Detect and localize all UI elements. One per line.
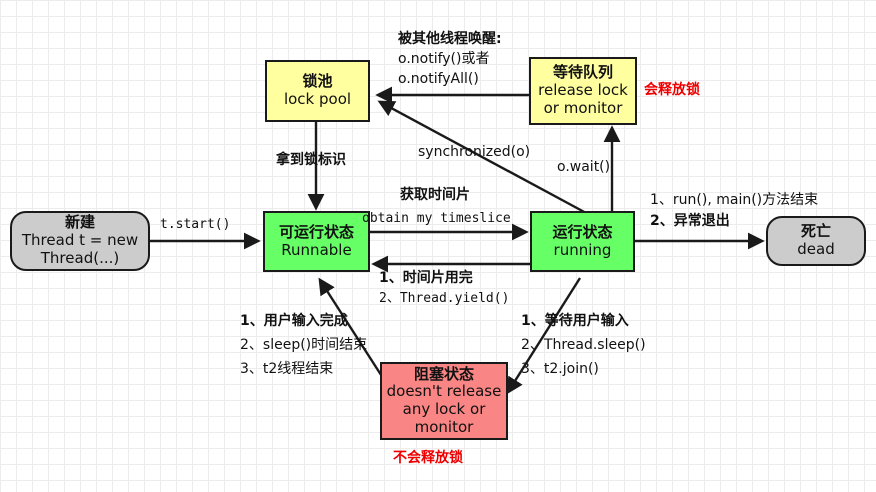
node-runnable[interactable]: 可运行状态 Runnable — [263, 211, 370, 272]
new-en-2: Thread(...) — [41, 250, 119, 268]
label-block-line1: 1、等待用户输入 — [521, 313, 629, 331]
label-unblock-line1: 1、用户输入完成 — [240, 313, 348, 331]
node-wait-queue[interactable]: 等待队列 release lock or monitor — [529, 57, 637, 125]
label-back-line1: 1、时间片用完 — [379, 270, 473, 288]
label-notify-line1: 被其他线程唤醒: — [398, 31, 502, 49]
node-new[interactable]: 新建 Thread t = new Thread(...) — [10, 211, 150, 271]
label-synchronized: synchronized(o) — [418, 144, 530, 162]
blocked-en-1: doesn't release — [387, 383, 502, 401]
label-dead-line2: 2、异常退出 — [650, 213, 730, 231]
label-t-start: t.start() — [160, 217, 230, 233]
new-cn: 新建 — [65, 214, 95, 232]
wait-queue-en-2: or monitor — [544, 100, 623, 118]
runnable-cn: 可运行状态 — [279, 224, 354, 242]
running-en: running — [554, 242, 612, 260]
label-unblock-line3: 3、t2线程结束 — [240, 361, 333, 379]
label-release-lock-note: 会释放锁 — [644, 82, 700, 100]
node-running[interactable]: 运行状态 running — [530, 211, 635, 272]
thread-state-diagram-canvas: 锁池 lock pool 等待队列 release lock or monito… — [0, 0, 876, 492]
blocked-en-3: monitor — [415, 419, 474, 437]
blocked-cn: 阻塞状态 — [414, 366, 474, 384]
dead-en: dead — [797, 241, 834, 259]
label-back-line2: 2、Thread.yield() — [379, 291, 509, 307]
label-block-line2: 2、Thread.sleep() — [521, 337, 646, 355]
wait-queue-cn: 等待队列 — [553, 64, 613, 82]
label-no-release-lock-note: 不会释放锁 — [393, 450, 463, 468]
lock-pool-cn: 锁池 — [302, 73, 332, 91]
node-blocked[interactable]: 阻塞状态 doesn't release any lock or monitor — [380, 362, 508, 440]
lock-pool-en: lock pool — [284, 91, 351, 109]
label-dead-line1: 1、run(), main()方法结束 — [650, 192, 818, 210]
running-cn: 运行状态 — [552, 224, 612, 242]
label-unblock-line2: 2、sleep()时间结束 — [240, 337, 367, 355]
node-lock-pool[interactable]: 锁池 lock pool — [265, 60, 370, 122]
label-get-lock-flag: 拿到锁标识 — [276, 152, 346, 170]
wait-queue-en-1: release lock — [538, 82, 628, 100]
dead-cn: 死亡 — [801, 223, 831, 241]
label-notify-line3: o.notifyAll() — [398, 71, 479, 89]
label-notify-line2: o.notify()或者 — [398, 51, 489, 69]
runnable-en: Runnable — [281, 242, 351, 260]
blocked-en-2: any lock or — [403, 401, 486, 419]
label-obtain-timeslice-en: obtain my timeslice — [362, 211, 511, 227]
node-dead[interactable]: 死亡 dead — [766, 216, 866, 266]
label-block-line3: 3、t2.join() — [521, 361, 599, 379]
label-obtain-timeslice-cn: 获取时间片 — [400, 187, 470, 205]
label-o-wait: o.wait() — [557, 159, 610, 177]
new-en-1: Thread t = new — [22, 232, 138, 250]
